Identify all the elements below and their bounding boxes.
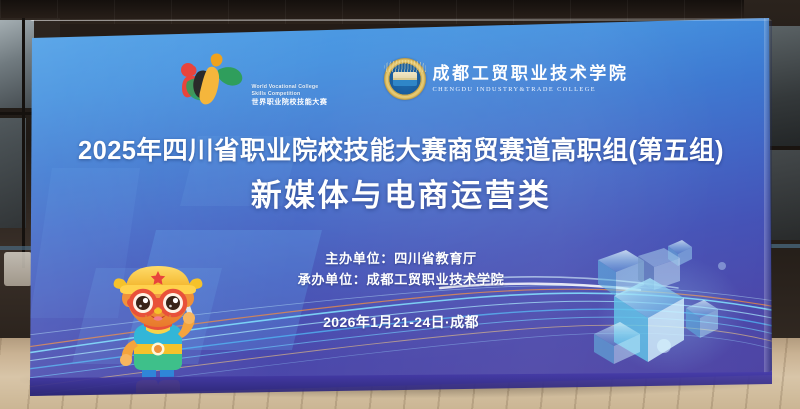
emblem-core-symbol [393, 72, 417, 86]
window-mullion-vertical [22, 18, 25, 268]
window-left-upper [0, 20, 34, 108]
emblem-arc-text [384, 60, 426, 72]
wvcsc-logo-mark [174, 48, 248, 110]
chengdu-industry-trade-college-emblem [384, 58, 426, 100]
banner-edge-right [764, 18, 772, 378]
logo-row: World Vocational College Skills Competit… [30, 44, 772, 114]
wvcsc-logo: World Vocational College Skills Competit… [174, 48, 328, 110]
headline-line-1: 2025年四川省职业院校技能大赛商贸赛道高职组(第五组) [30, 134, 772, 168]
screenshot-scene: World Vocational College Skills Competit… [0, 0, 800, 409]
college-english-name: CHENGDU INDUSTRY&TRADE COLLEGE [433, 85, 629, 94]
college-logo: 成都工贸职业技术学院 CHENGDU INDUSTRY&TRADE COLLEG… [384, 52, 629, 106]
college-text-block: 成都工贸职业技术学院 CHENGDU INDUSTRY&TRADE COLLEG… [433, 64, 629, 94]
window-right-lower [770, 150, 800, 240]
background-object-left [4, 252, 32, 286]
event-banner-board: World Vocational College Skills Competit… [30, 18, 772, 396]
headline-line-2: 新媒体与电商运营类 [30, 173, 772, 219]
competition-mascot [96, 258, 216, 396]
window-mullion-horizontal [0, 112, 36, 115]
wvcsc-chinese: 世界职业院校技能大赛 [252, 98, 328, 107]
headline-block: 2025年四川省职业院校技能大赛商贸赛道高职组(第五组) 新媒体与电商运营类 [30, 134, 772, 219]
wvcsc-english-line2: Skills Competition [252, 91, 328, 97]
wvcsc-text-block: World Vocational College Skills Competit… [252, 84, 328, 110]
college-chinese-name: 成都工贸职业技术学院 [433, 64, 629, 84]
